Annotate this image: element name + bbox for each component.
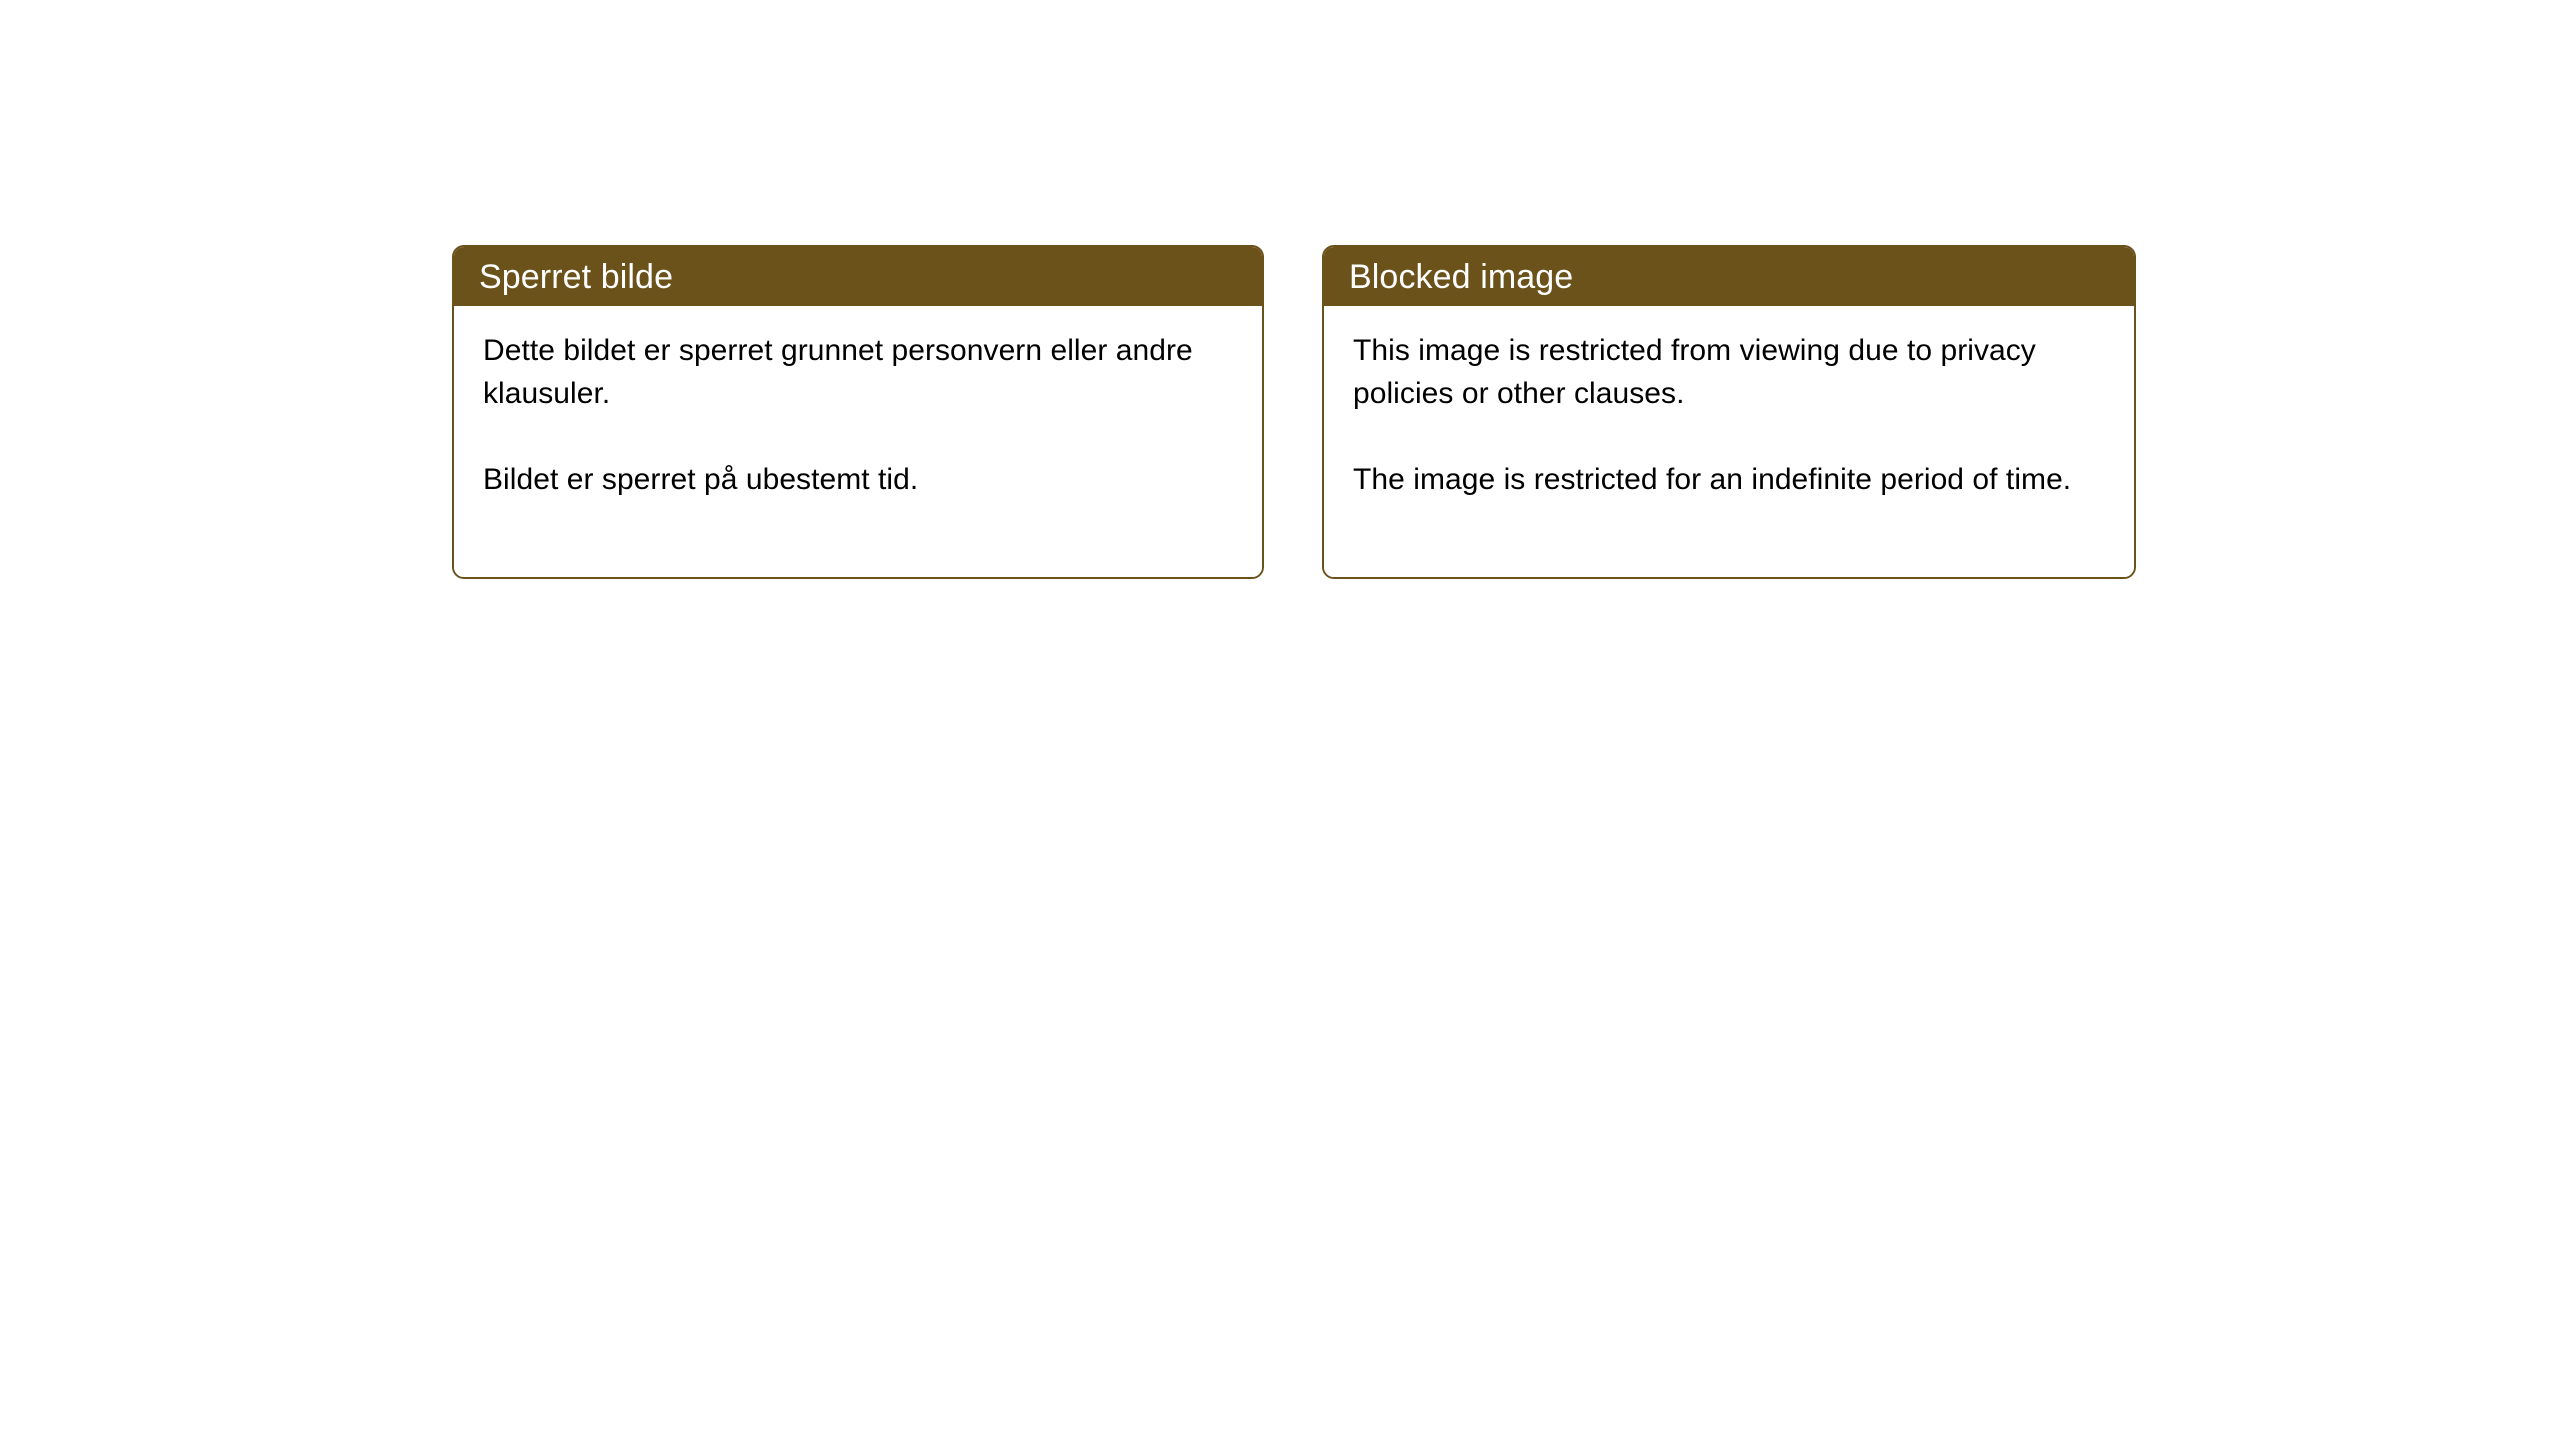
blocked-image-notice-english: Blocked image This image is restricted f… [1322,245,2136,579]
panel-paragraph-reason-english: This image is restricted from viewing du… [1353,329,2108,415]
panel-paragraph-duration-norwegian: Bildet er sperret på ubestemt tid. [483,458,1236,501]
panel-title-norwegian: Sperret bilde [479,260,673,294]
page-canvas: Sperret bilde Dette bildet er sperret gr… [0,0,2560,1440]
panel-body-norwegian: Dette bildet er sperret grunnet personve… [454,306,1262,577]
panel-paragraph-duration-english: The image is restricted for an indefinit… [1353,458,2108,501]
panel-header-norwegian: Sperret bilde [454,247,1262,306]
panel-title-english: Blocked image [1349,260,1573,294]
blocked-image-notice-norwegian: Sperret bilde Dette bildet er sperret gr… [452,245,1264,579]
panel-body-english: This image is restricted from viewing du… [1324,306,2134,577]
panel-header-english: Blocked image [1324,247,2134,306]
panel-paragraph-reason-norwegian: Dette bildet er sperret grunnet personve… [483,329,1236,415]
